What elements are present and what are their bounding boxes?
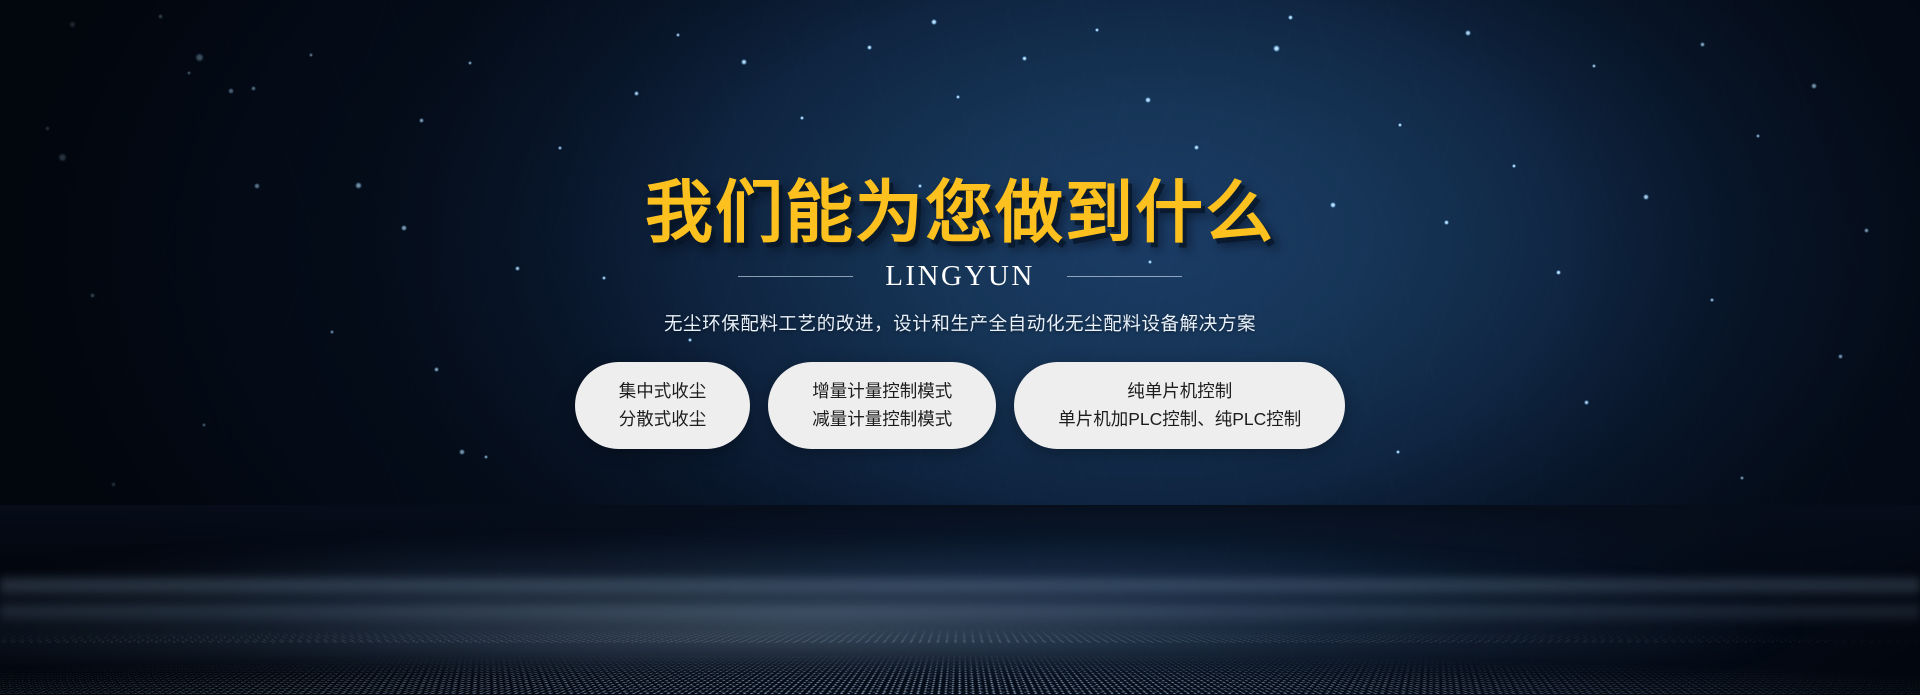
feature-card-line-1: 纯单片机控制: [1127, 383, 1232, 401]
banner-description: 无尘环保配料工艺的改进，设计和生产全自动化无尘配料设备解决方案: [0, 310, 1920, 336]
feature-card[interactable]: 纯单片机控制 单片机加PLC控制、纯PLC控制: [1014, 362, 1345, 449]
brand-name: LINGYUN: [885, 262, 1035, 291]
feature-card-line-1: 集中式收尘: [619, 383, 707, 401]
feature-card[interactable]: 增量计量控制模式 减量计量控制模式: [768, 362, 996, 449]
divider-line-left: [738, 276, 853, 277]
page-title: 我们能为您做到什么: [0, 180, 1920, 248]
feature-card[interactable]: 集中式收尘 分散式收尘: [575, 362, 751, 449]
feature-card-line-2: 减量计量控制模式: [812, 411, 952, 429]
feature-card-list: 集中式收尘 分散式收尘 增量计量控制模式 减量计量控制模式 纯单片机控制 单片机…: [0, 362, 1920, 449]
brand-row: LINGYUN: [0, 262, 1920, 291]
banner-content: 我们能为您做到什么 LINGYUN 无尘环保配料工艺的改进，设计和生产全自动化无…: [0, 0, 1920, 695]
hero-banner: 我们能为您做到什么 LINGYUN 无尘环保配料工艺的改进，设计和生产全自动化无…: [0, 0, 1920, 695]
feature-card-line-2: 单片机加PLC控制、纯PLC控制: [1058, 411, 1301, 429]
feature-card-line-2: 分散式收尘: [619, 411, 707, 429]
feature-card-line-1: 增量计量控制模式: [812, 383, 952, 401]
divider-line-right: [1067, 276, 1182, 277]
